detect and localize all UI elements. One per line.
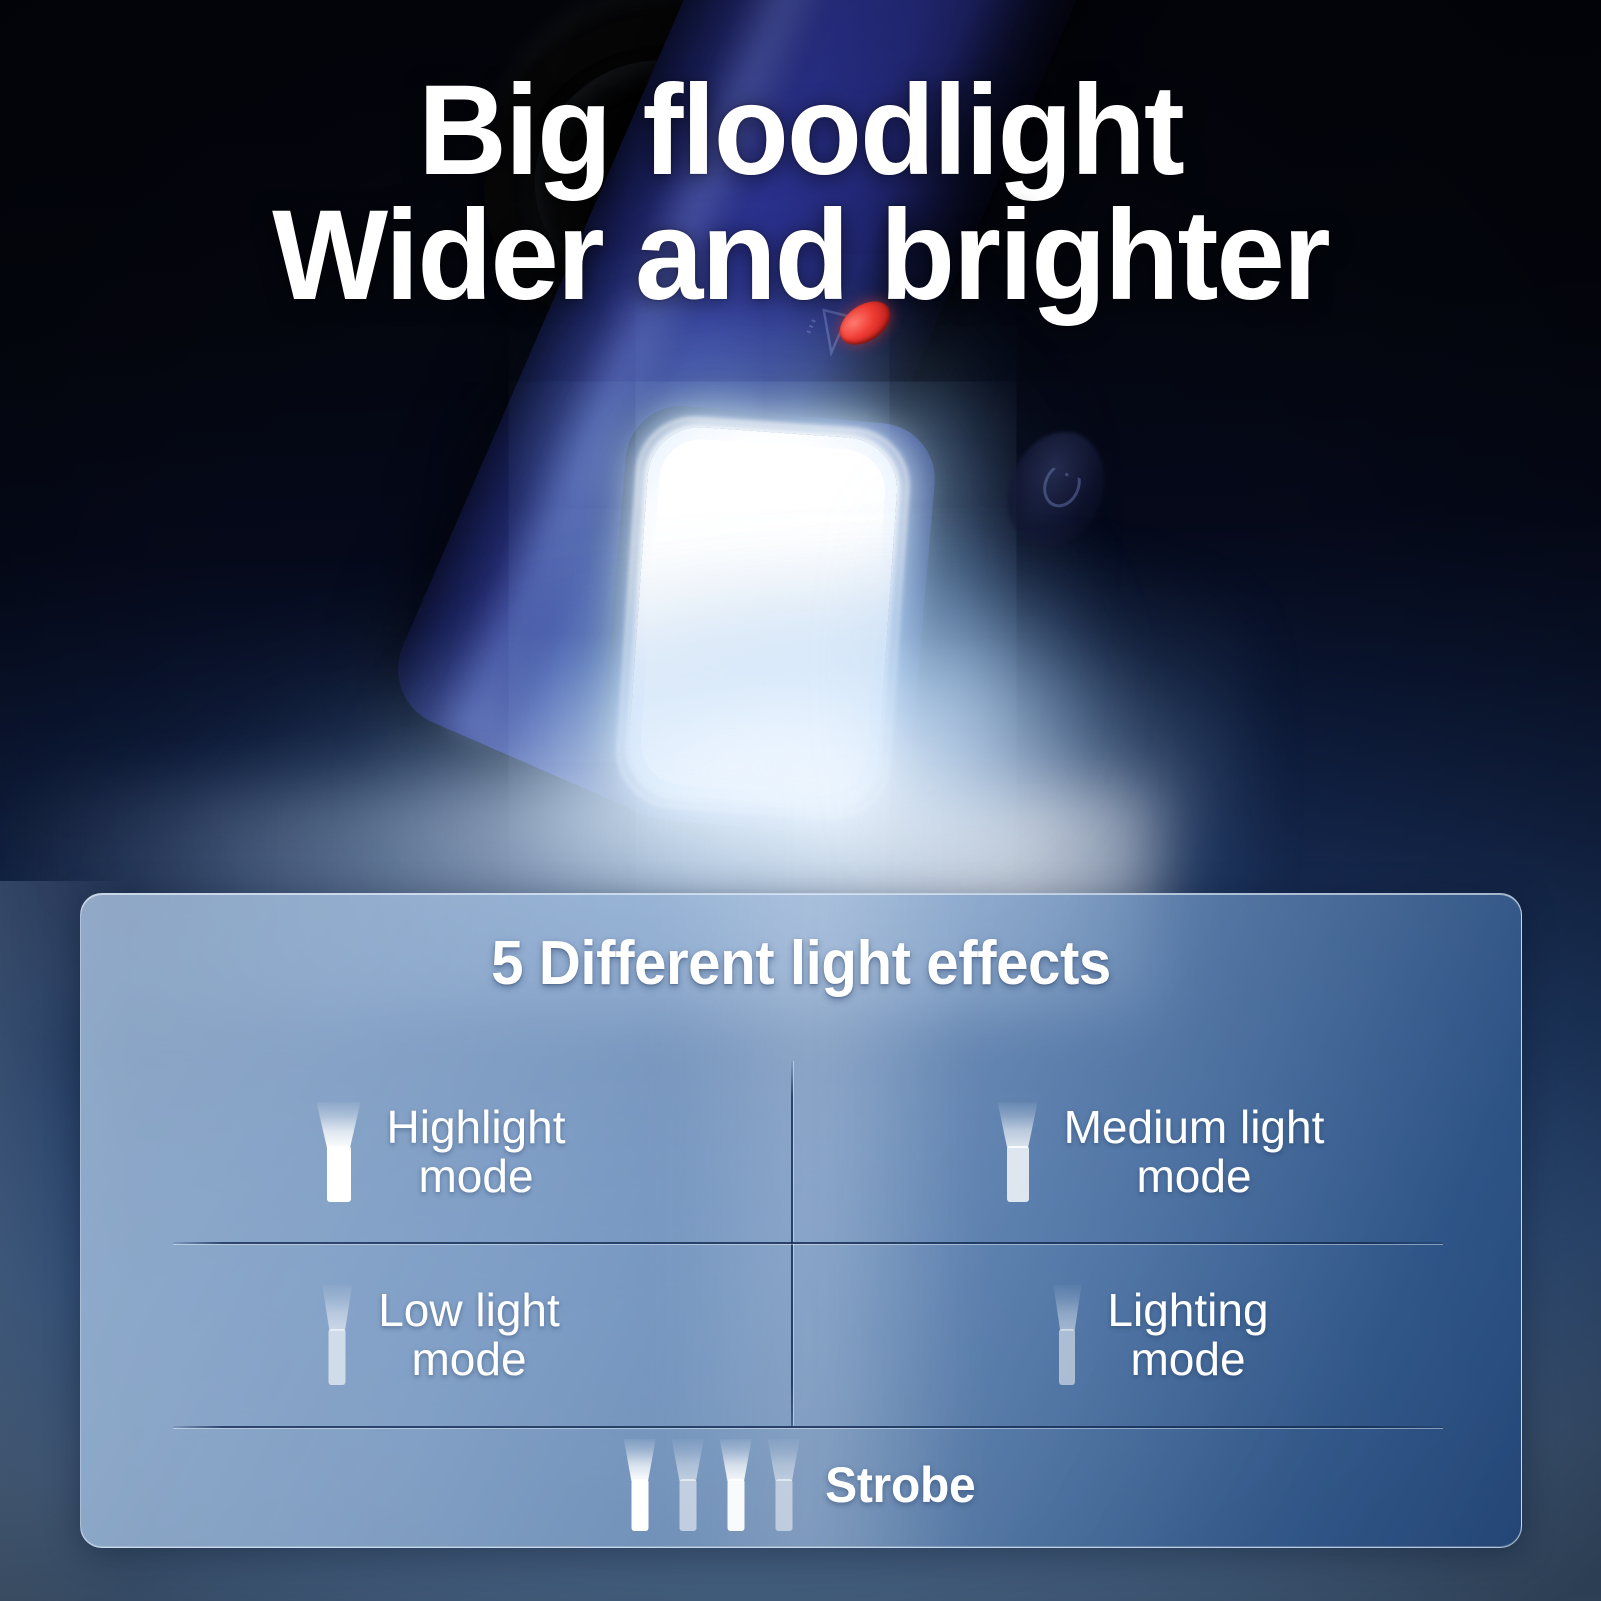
strobe-icon-group — [624, 1439, 800, 1531]
product-marketing-image: JHL 600 Big floodlight Wider and brigh — [0, 0, 1601, 1601]
mode-cell-lighting[interactable]: Lighting mode — [801, 1244, 1521, 1427]
light-effects-card: 5 Different light effects Highlight mode… — [80, 893, 1522, 1548]
strobe-row[interactable]: Strobe — [81, 1439, 1521, 1531]
mode-label: Lighting mode — [1107, 1286, 1268, 1384]
mode-cell-medium-light[interactable]: Medium light mode — [801, 1061, 1521, 1244]
card-title: 5 Different light effects — [124, 928, 1478, 999]
card-divider-horizontal-2 — [173, 1426, 1443, 1428]
flashlight-icon — [317, 1102, 361, 1202]
mode-cell-highlight[interactable]: Highlight mode — [81, 1061, 801, 1244]
flashlight-icon — [322, 1285, 352, 1385]
strobe-label: Strobe — [825, 1456, 975, 1514]
light-modes-grid: Highlight mode Medium light mode Low lig… — [81, 1061, 1521, 1426]
mode-label: Highlight mode — [387, 1103, 566, 1201]
flashlight-icon — [624, 1439, 656, 1531]
flashlight-icon — [720, 1439, 752, 1531]
page-title: Big floodlight Wider and brighter — [32, 68, 1569, 319]
headline-line-2: Wider and brighter — [32, 193, 1569, 318]
headline-line-1: Big floodlight — [418, 59, 1183, 202]
flashlight-icon — [998, 1102, 1038, 1202]
mode-label: Low light mode — [378, 1286, 560, 1384]
flashlight-icon — [1053, 1285, 1081, 1385]
mode-cell-low-light[interactable]: Low light mode — [81, 1244, 801, 1427]
flashlight-icon — [768, 1439, 800, 1531]
mode-label: Medium light mode — [1064, 1103, 1325, 1201]
flashlight-icon — [672, 1439, 704, 1531]
